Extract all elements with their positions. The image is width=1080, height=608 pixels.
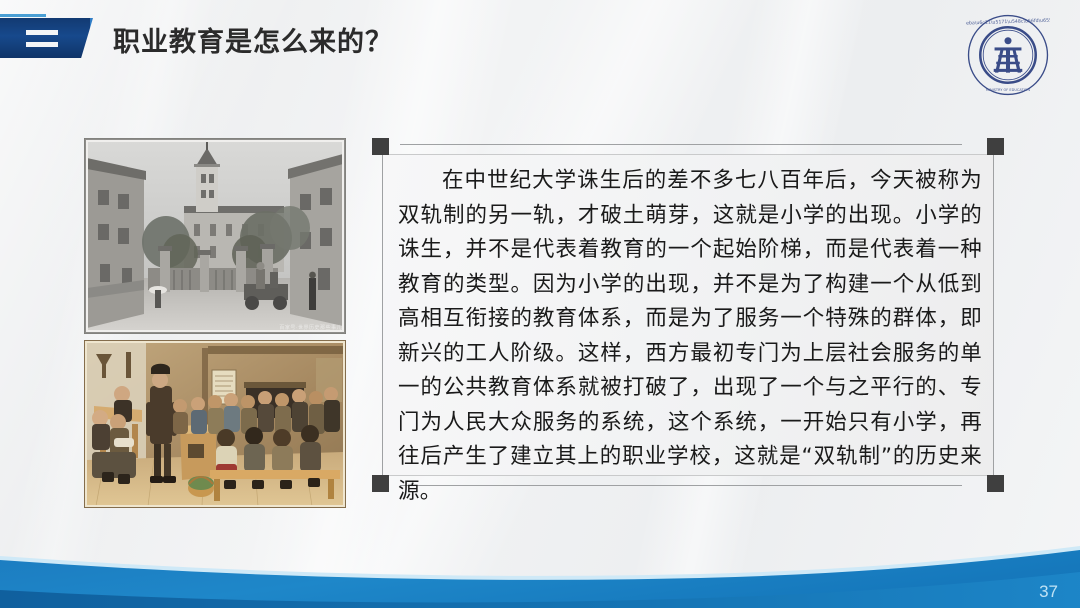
svg-text:MINISTRY OF EDUCATION: MINISTRY OF EDUCATION xyxy=(986,88,1031,92)
top-accent-line xyxy=(0,14,46,17)
ministry-of-education-emblem-icon: \u4e2d\u534e\u4eba\u6c11\u5171\u548c\u56… xyxy=(966,13,1050,97)
text-content-frame: 在中世纪大学诛生后的差不多七八百年后，今天被称为双轨制的另一轨，才破土萌芽，这就… xyxy=(372,140,1004,490)
presentation-slide: 职业教育是怎么来的？ \u4e2d\u534e\u4eba\u6c11\u517… xyxy=(0,0,1080,608)
village-school-painting xyxy=(84,340,346,508)
section-number-badge xyxy=(0,18,93,58)
badge-stroke-upper xyxy=(26,30,58,35)
frame-rule-left xyxy=(382,146,383,484)
frame-rule-right xyxy=(993,146,994,484)
page-title: 职业教育是怎么来的？ xyxy=(113,20,393,59)
slide-footer: 37 xyxy=(0,538,1080,608)
badge-stroke-lower xyxy=(26,42,58,47)
frame-corner-square-bottom-left xyxy=(372,475,389,492)
frame-corner-square-top-left xyxy=(372,138,389,155)
page-number: 37 xyxy=(1039,582,1058,602)
frame-corner-square-bottom-right xyxy=(987,475,1004,492)
body-paragraph: 在中世纪大学诛生后的差不多七八百年后，今天被称为双轨制的另一轨，才破土萌芽，这就… xyxy=(398,164,982,509)
frame-rule-top xyxy=(400,144,962,145)
historic-town-square-photo: 百家号·世界历史那些事儿 xyxy=(84,138,346,334)
photo-watermark: 百家号·世界历史那些事儿 xyxy=(279,324,342,331)
frame-corner-square-top-right xyxy=(987,138,1004,155)
